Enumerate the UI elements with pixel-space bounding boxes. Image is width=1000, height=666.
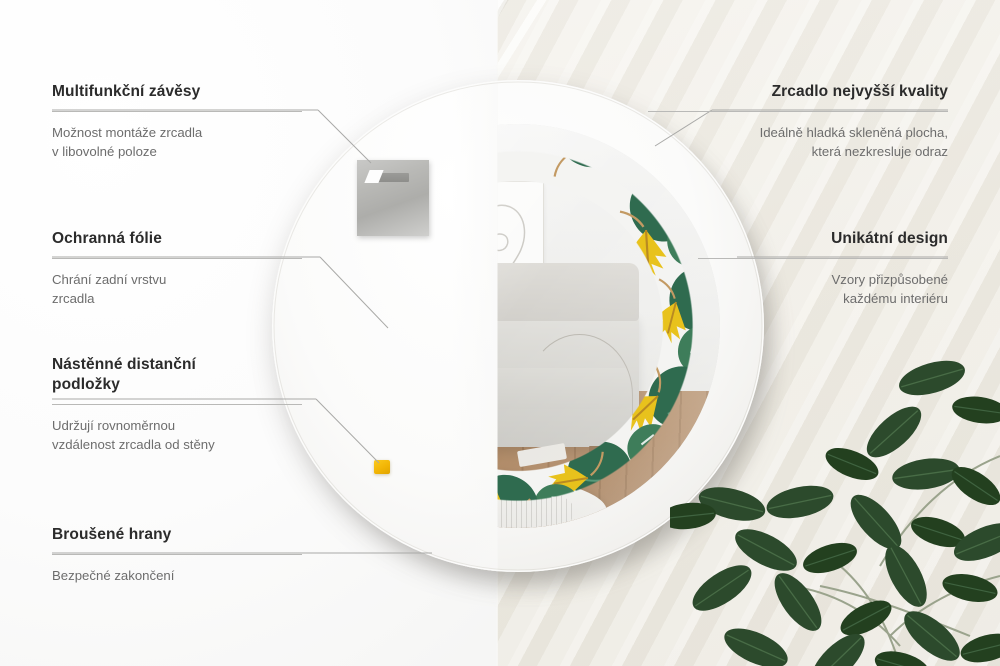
callout-title: Nástěnné distanční podložky bbox=[52, 355, 302, 395]
mirror-left-plain-half bbox=[272, 80, 497, 572]
callout-body-line: vzdálenost zrcadla od stěny bbox=[52, 435, 302, 454]
callout-body: Udržují rovnoměrnou vzdálenost zrcadla o… bbox=[52, 416, 302, 454]
hanger-keyhole-slot bbox=[375, 173, 409, 182]
callout-body: Vzory přizpůsobené každému interiéru bbox=[698, 270, 948, 308]
callout-title: Zrcadlo nejvyšší kvality bbox=[648, 82, 948, 102]
callout-rule bbox=[52, 111, 302, 112]
callout-body-line: každému interiéru bbox=[698, 289, 948, 308]
callout-body-line: Vzory přizpůsobené bbox=[698, 270, 948, 289]
callout-body-line: která nezkresluje odraz bbox=[648, 142, 948, 161]
callout-title: Ochranná fólie bbox=[52, 229, 302, 249]
callout-body: Chrání zadní vrstvu zrcadla bbox=[52, 270, 302, 308]
callout-rule bbox=[698, 258, 948, 259]
callout-rule bbox=[52, 258, 302, 259]
callout-brousene-hrany: Broušené hrany Bezpečné zakončení bbox=[52, 525, 302, 585]
callout-title: Broušené hrany bbox=[52, 525, 302, 545]
callout-ochranna-folie: Ochranná fólie Chrání zadní vrstvu zrcad… bbox=[52, 229, 302, 308]
callout-body-line: Chrání zadní vrstvu bbox=[52, 270, 302, 289]
callout-body-line: v libovolné poloze bbox=[52, 142, 302, 161]
callout-title-line: Nástěnné distanční bbox=[52, 355, 302, 375]
callout-rule bbox=[648, 111, 948, 112]
callout-body-line: Ideálně hladká skleněná plocha, bbox=[648, 123, 948, 142]
wall-spacer-pad bbox=[374, 460, 390, 474]
callout-body-line: zrcadla bbox=[52, 289, 302, 308]
callout-body: Ideálně hladká skleněná plocha, která ne… bbox=[648, 123, 948, 161]
hanger-plate bbox=[357, 160, 429, 236]
callout-zrcadlo-nejvyssi-kvality: Zrcadlo nejvyšší kvality Ideálně hladká … bbox=[648, 82, 948, 161]
callout-body: Bezpečné zakončení bbox=[52, 566, 302, 585]
callout-multifunkcni-zavesy: Multifunkční závěsy Možnost montáže zrca… bbox=[52, 82, 302, 161]
callout-body-line: Bezpečné zakončení bbox=[52, 566, 302, 585]
callout-rule bbox=[52, 404, 302, 405]
infographic-canvas: Multifunkční závěsy Možnost montáže zrca… bbox=[0, 0, 1000, 666]
callout-title: Unikátní design bbox=[698, 229, 948, 249]
callout-body-line: Udržují rovnoměrnou bbox=[52, 416, 302, 435]
callout-unikatni-design: Unikátní design Vzory přizpůsobené každé… bbox=[698, 229, 948, 308]
callout-title: Multifunkční závěsy bbox=[52, 82, 302, 102]
callout-title-line: podložky bbox=[52, 375, 302, 395]
callout-body-line: Možnost montáže zrcadla bbox=[52, 123, 302, 142]
callout-rule bbox=[52, 554, 302, 555]
callout-nastenne-distancni-podlozky: Nástěnné distanční podložky Udržují rovn… bbox=[52, 355, 302, 455]
callout-body: Možnost montáže zrcadla v libovolné polo… bbox=[52, 123, 302, 161]
